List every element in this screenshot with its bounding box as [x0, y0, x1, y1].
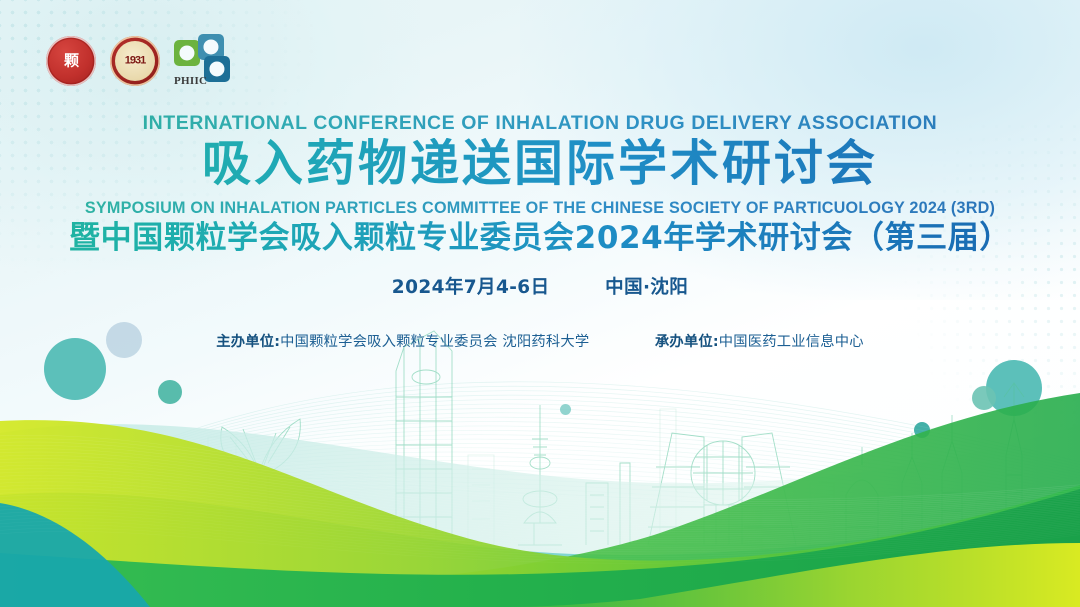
conference-poster: 颗 1931 PHIIC INTERNATIONAL CONFERENCE OF… [0, 0, 1080, 607]
bottom-wave-graphics [0, 307, 1080, 607]
circle-teal-small-right [914, 422, 930, 438]
organizer-row: 主办单位:中国颗粒学会吸入颗粒专业委员会 沈阳药科大学 承办单位:中国医药工业信… [0, 330, 1080, 351]
english-subtitle: SYMPOSIUM ON INHALATION PARTICLES COMMIT… [0, 199, 1080, 218]
chinese-title: 吸入药物递送国际学术研讨会 [0, 138, 1080, 191]
organizer-label: 承办单位: [655, 334, 719, 350]
co-organizer: 承办单位:中国医药工业信息中心 [655, 334, 864, 350]
circle-teal-tiny-mid [560, 404, 571, 415]
circle-teal-small-left [158, 380, 182, 404]
host-organizer: 主办单位:中国颗粒学会吸入颗粒专业委员会 沈阳药科大学 [216, 334, 594, 350]
event-location: 中国·沈阳 [605, 277, 688, 298]
event-date: 2024年7月4-6日 [392, 277, 550, 298]
host-label: 主办单位: [216, 334, 280, 350]
circle-teal-mid-right [972, 386, 996, 410]
host-value: 中国颗粒学会吸入颗粒专业委员会 沈阳药科大学 [280, 334, 589, 350]
poster-content: INTERNATIONAL CONFERENCE OF INHALATION D… [0, 0, 1080, 351]
english-title: INTERNATIONAL CONFERENCE OF INHALATION D… [0, 112, 1080, 135]
circle-teal-large-right [986, 360, 1042, 416]
organizer-value: 中国医药工业信息中心 [719, 334, 864, 350]
event-date-location: 2024年7月4-6日 中国·沈阳 [0, 273, 1080, 299]
chinese-subtitle: 暨中国颗粒学会吸入颗粒专业委员会2024年学术研讨会（第三届） [0, 220, 1080, 257]
